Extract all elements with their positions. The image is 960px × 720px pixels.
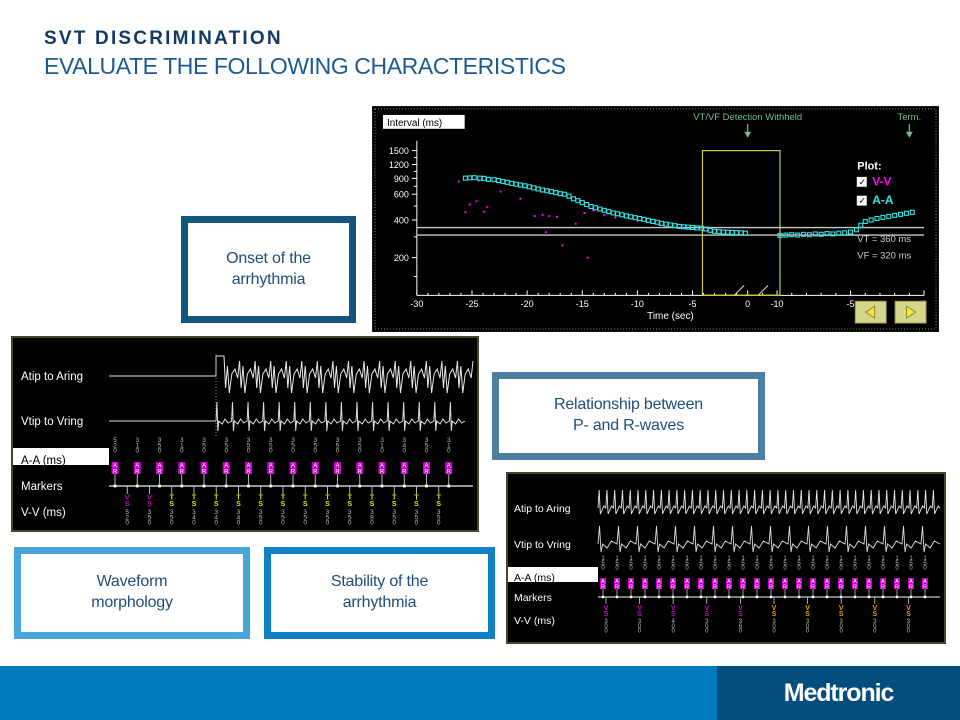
callout-waveform-line2: morphology xyxy=(91,594,173,611)
callout-waveform-label: Waveform morphology xyxy=(91,572,173,614)
callout-relationship-label: Relationship between P- and R-waves xyxy=(554,395,703,437)
vv-marker-bottom: S xyxy=(772,611,777,618)
plot-background xyxy=(373,107,938,331)
vv-marker-bottom: S xyxy=(738,611,743,618)
vv-marker-bottom: S xyxy=(258,501,263,508)
right-arrow-icon[interactable] xyxy=(895,301,926,323)
vertical-digit: 0 xyxy=(326,520,330,527)
callout-waveform-morphology[interactable]: Waveform morphology xyxy=(14,547,250,639)
vv-marker-bottom: S xyxy=(436,501,441,508)
egm2-row-label: Vtip to Vring xyxy=(514,539,571,551)
y-tick-label: 900 xyxy=(394,174,409,184)
y-tick-label: 1500 xyxy=(389,146,409,156)
marker-node xyxy=(203,485,206,488)
x-tick-label: -30 xyxy=(410,299,423,309)
marker-node xyxy=(403,485,406,488)
marker-node xyxy=(756,596,758,598)
vv-marker-bottom: S xyxy=(704,611,709,618)
callout-onset-line1: Onset of the xyxy=(226,250,311,267)
left-arrow-icon[interactable] xyxy=(855,301,886,323)
data-point xyxy=(614,216,616,218)
vertical-digit: 0 xyxy=(135,448,139,455)
callout-stability-line2: arrhythmia xyxy=(343,594,417,611)
x-tick-label: -5 xyxy=(689,299,697,309)
data-point xyxy=(575,223,577,225)
vertical-digit: 0 xyxy=(415,520,419,527)
marker-node xyxy=(225,485,228,488)
legend-note: VF = 320 ms xyxy=(857,251,911,262)
marker-node xyxy=(812,596,814,598)
x-tick-label: -25 xyxy=(466,299,479,309)
vv-marker-bottom: S xyxy=(147,501,152,508)
marker-node xyxy=(826,596,828,598)
marker-node xyxy=(882,596,884,598)
marker-node xyxy=(896,596,898,598)
y-tick-label: 200 xyxy=(394,253,409,263)
check-icon: ✓ xyxy=(858,177,866,187)
x-tick-label: -20 xyxy=(521,299,534,309)
vertical-digit: 0 xyxy=(237,520,241,527)
vv-marker-bottom: S xyxy=(214,501,219,508)
data-point xyxy=(548,215,550,217)
vv-marker-bottom: S xyxy=(281,501,286,508)
x-tick-label: -10 xyxy=(631,299,644,309)
vertical-digit: 0 xyxy=(192,520,196,527)
vertical-digit: 0 xyxy=(170,520,174,527)
marker-node xyxy=(784,596,786,598)
x-tick-label: -15 xyxy=(576,299,589,309)
marker-node xyxy=(447,485,450,488)
marker-node xyxy=(658,596,660,598)
y-tick-label: 400 xyxy=(394,215,409,225)
marker-node xyxy=(381,485,384,488)
vv-marker-bottom: S xyxy=(872,611,877,618)
data-point xyxy=(458,181,460,183)
vv-marker-bottom: S xyxy=(414,501,419,508)
marker-node xyxy=(686,596,688,598)
data-point xyxy=(534,215,536,217)
marker-node xyxy=(358,485,361,488)
vv-marker-bottom: S xyxy=(236,501,241,508)
egm1-row-label: A-A (ms) xyxy=(21,455,66,467)
marker-node xyxy=(770,596,772,598)
marker-node xyxy=(269,485,272,488)
footer-logo-panel: Medtronic xyxy=(717,666,960,720)
interval-plot-panel[interactable]: 15001200900600400200-30-25-20-15-10-50-1… xyxy=(372,106,939,332)
egm-strip-stability[interactable]: Atip to AringVtip to VringA-A (ms)Marker… xyxy=(506,472,946,644)
page-title: SVT DISCRIMINATION EVALUATE THE FOLLOWIN… xyxy=(44,28,566,80)
data-point xyxy=(542,214,544,216)
legend-label-V-V: V-V xyxy=(872,174,891,188)
marker-node xyxy=(158,485,161,488)
vertical-digit: 0 xyxy=(113,448,117,455)
callout-relationship-line2: P- and R-waves xyxy=(573,417,684,434)
data-point xyxy=(545,231,547,233)
data-point xyxy=(486,206,488,208)
marker-node xyxy=(114,485,117,488)
vertical-digit: 0 xyxy=(402,448,406,455)
y-axis-label: Interval (ms) xyxy=(387,118,442,129)
marker-node xyxy=(742,596,744,598)
y-tick-label: 1200 xyxy=(389,160,409,170)
callout-onset-line2: arrhythmia xyxy=(232,271,306,288)
vertical-digit: 0 xyxy=(447,448,451,455)
legend-label-A-A: A-A xyxy=(872,193,894,207)
vertical-digit: 0 xyxy=(281,520,285,527)
data-point xyxy=(483,211,485,213)
egm1-row-label: Markers xyxy=(21,481,63,493)
egm1-row-label: V-V (ms) xyxy=(21,507,66,519)
data-point xyxy=(603,214,605,216)
medtronic-wordmark: Medtronic xyxy=(717,666,960,720)
vertical-digit: 0 xyxy=(370,520,374,527)
vv-marker-bottom: S xyxy=(347,501,352,508)
data-point xyxy=(464,211,466,213)
vertical-digit: 0 xyxy=(269,448,273,455)
egm-strip-onset[interactable]: Atip to AringVtip to VringA-A (ms)Marker… xyxy=(11,336,479,532)
x-tick-label: -10 xyxy=(771,299,784,309)
vertical-digit: 0 xyxy=(202,448,206,455)
egm2-row-label: V-V (ms) xyxy=(514,615,555,627)
marker-node xyxy=(425,485,428,488)
x-axis-label: Time (sec) xyxy=(647,311,694,322)
egm2-row-label: Atip to Aring xyxy=(514,503,571,515)
data-point xyxy=(587,257,589,259)
vertical-digit: 0 xyxy=(392,520,396,527)
x-tick-label: -5 xyxy=(847,299,855,309)
vertical-digit: 0 xyxy=(224,448,228,455)
callout-relationship-line1: Relationship between xyxy=(554,396,703,413)
callout-stability-of-arrhythmia[interactable]: Stability of the arrhythmia xyxy=(264,547,495,639)
marker-node xyxy=(714,596,716,598)
egm1-background xyxy=(11,336,479,532)
vertical-digit: 0 xyxy=(303,520,307,527)
vertical-digit: 0 xyxy=(336,448,340,455)
vv-marker-bottom: S xyxy=(604,611,609,618)
egm-strip-1-svg: Atip to AringVtip to VringA-A (ms)Marker… xyxy=(11,336,479,532)
egm1-row-label: Atip to Aring xyxy=(21,371,83,383)
callout-stability-label: Stability of the arrhythmia xyxy=(331,572,428,614)
vertical-digit: 0 xyxy=(247,448,251,455)
data-point xyxy=(469,204,471,206)
data-point xyxy=(475,200,477,202)
marker-node xyxy=(868,596,870,598)
egm1-row-label: Vtip to Vring xyxy=(21,416,83,428)
vertical-digit: 0 xyxy=(313,448,317,455)
vertical-digit: 0 xyxy=(358,448,362,455)
vv-marker-bottom: S xyxy=(370,501,375,508)
vv-marker-bottom: S xyxy=(392,501,397,508)
vertical-digit: 0 xyxy=(214,520,218,527)
data-point xyxy=(556,216,558,218)
callout-stability-line1: Stability of the xyxy=(331,573,428,590)
callout-onset-label: Onset of the arrhythmia xyxy=(226,249,311,291)
title-eyebrow: SVT DISCRIMINATION xyxy=(44,28,566,50)
marker-node xyxy=(910,596,912,598)
vv-marker-bottom: S xyxy=(671,611,676,618)
callout-waveform-line1: Waveform xyxy=(97,573,168,590)
marker-node xyxy=(924,596,926,598)
vertical-digit: 0 xyxy=(148,520,152,527)
check-icon: ✓ xyxy=(858,196,866,206)
legend-note: VT = 360 ms xyxy=(857,234,911,245)
marker-node xyxy=(616,596,618,598)
y-tick-label: 600 xyxy=(394,190,409,200)
x-tick-label: 0 xyxy=(745,299,750,309)
data-point xyxy=(583,212,585,214)
egm2-row-label: A-A (ms) xyxy=(514,572,555,584)
vertical-digit: 0 xyxy=(348,520,352,527)
data-point xyxy=(561,244,563,246)
marker-node xyxy=(728,596,730,598)
marker-node xyxy=(602,596,604,598)
marker-node xyxy=(180,485,183,488)
egm2-background xyxy=(506,472,946,644)
vv-marker-bottom: S xyxy=(637,611,642,618)
marker-node xyxy=(292,485,295,488)
vv-marker-bottom: S xyxy=(303,501,308,508)
marker-node xyxy=(136,485,139,488)
marker-node xyxy=(798,596,800,598)
data-point xyxy=(520,198,522,200)
vertical-digit: 0 xyxy=(180,448,184,455)
interval-plot-svg[interactable]: 15001200900600400200-30-25-20-15-10-50-1… xyxy=(373,107,938,331)
callout-onset-of-arrhythmia[interactable]: Onset of the arrhythmia xyxy=(181,216,356,323)
marker-node xyxy=(630,596,632,598)
legend-header: Plot: xyxy=(857,160,881,172)
vertical-digit: 0 xyxy=(425,448,429,455)
egm2-row-label: Markers xyxy=(514,592,552,604)
vv-marker-bottom: S xyxy=(192,501,197,508)
marker-node xyxy=(700,596,702,598)
vv-marker-bottom: S xyxy=(325,501,330,508)
vv-marker-bottom: S xyxy=(839,611,844,618)
vertical-digit: 0 xyxy=(125,520,129,527)
vv-marker-bottom: S xyxy=(906,611,911,618)
vertical-digit: 0 xyxy=(158,448,162,455)
vertical-digit: 0 xyxy=(291,448,295,455)
vertical-digit: 0 xyxy=(380,448,384,455)
marker-node xyxy=(854,596,856,598)
annotation-withheld: VT/VF Detection Withheld xyxy=(693,112,802,123)
title-main: EVALUATE THE FOLLOWING CHARACTERISTICS xyxy=(44,53,566,81)
vv-marker-bottom: S xyxy=(169,501,174,508)
vv-marker-bottom: S xyxy=(805,611,810,618)
marker-node xyxy=(314,485,317,488)
marker-node xyxy=(336,485,339,488)
vv-marker-bottom: S xyxy=(125,501,130,508)
marker-node xyxy=(247,485,250,488)
callout-p-r-relationship[interactable]: Relationship between P- and R-waves xyxy=(492,372,765,460)
annotation-term: Term. xyxy=(898,112,922,123)
footer-bar: Medtronic xyxy=(0,666,960,720)
vertical-digit: 0 xyxy=(259,520,263,527)
marker-node xyxy=(644,596,646,598)
egm-strip-2-svg: Atip to AringVtip to VringA-A (ms)Marker… xyxy=(506,472,946,644)
vertical-digit: 0 xyxy=(437,520,441,527)
data-point xyxy=(500,191,502,193)
